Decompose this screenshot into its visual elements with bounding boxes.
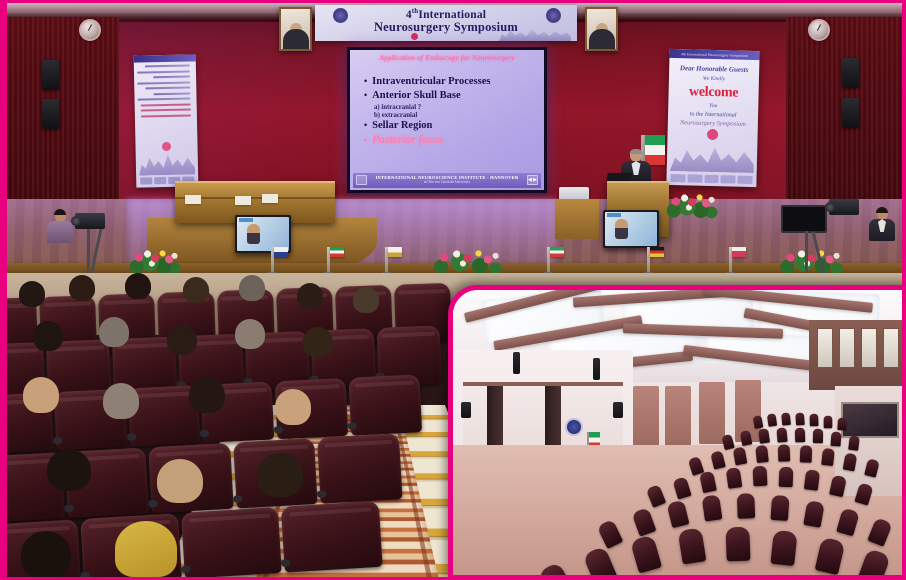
wall-speaker-icon [42, 60, 59, 90]
seat-armrest [274, 426, 283, 433]
auditorium-seat [821, 448, 835, 466]
germany-flag-icon [647, 247, 650, 273]
audience-person [19, 281, 45, 307]
auditorium-seat [781, 412, 791, 425]
audience-person [99, 317, 129, 347]
monitor-titlebar [239, 218, 253, 222]
table-papers [185, 195, 201, 204]
auditorium-seat [672, 476, 691, 499]
audience-person-headscarf [115, 521, 177, 577]
person-shirt [878, 219, 886, 232]
slide-bullet: • Intraventricular Processes [364, 76, 538, 87]
audience-person [257, 453, 303, 497]
person-hair [876, 207, 888, 213]
auditorium-seat [843, 453, 858, 472]
auditorium-seat [836, 508, 860, 537]
national-flag-icon [385, 247, 388, 273]
welcome-banner-body: Dear Honorable Guests We Kindly welcome … [668, 58, 760, 128]
auditorium-seat [758, 428, 770, 444]
auditorium-seat [864, 458, 880, 477]
auditorium-seat [767, 413, 777, 426]
banner-pink-dot-icon [162, 142, 171, 151]
auditorium-seat [770, 530, 797, 566]
camera-lens-icon [825, 202, 835, 212]
auditorium-seat [699, 471, 717, 493]
sponsor-icon [670, 174, 685, 182]
farsi-text-line [145, 65, 190, 68]
symposium-header-banner: 4thInternational Neurosurgery Symposium [315, 5, 577, 41]
stage-flower-arrangement [775, 245, 845, 275]
auditorium-seat [824, 416, 833, 428]
banner-red-text-line [141, 109, 191, 112]
banner-red-text-line [141, 103, 191, 106]
auditorium-seat [857, 548, 891, 575]
side-banner-header-bar [134, 54, 196, 62]
slide-bullet: • Sellar Region [364, 120, 538, 131]
slide-footer-bar: INTERNATIONAL NEUROSCIENCE INSTITUTE - H… [353, 173, 541, 188]
bullet-dot-icon: • [364, 136, 367, 145]
bullet-dot-icon: • [364, 91, 367, 100]
inset-photo-empty-auditorium [448, 285, 902, 577]
wall-speaker-icon [42, 99, 59, 129]
welcome-line-3: You [672, 102, 754, 110]
auditorium-seat [733, 447, 748, 466]
seat-armrest [317, 490, 326, 497]
welcome-banner: 4th International Neurosurgery Symposium… [666, 49, 759, 187]
audience-person [235, 319, 265, 349]
welcome-line-1: Dear Honorable Guests [673, 64, 755, 74]
flag-cloth [388, 247, 402, 257]
audience-person [239, 275, 265, 301]
flag-cloth [550, 247, 564, 257]
institute-logo-icon [356, 175, 367, 185]
auditorium-seat [721, 434, 734, 450]
seat-armrest [53, 437, 62, 444]
slide-footer-text: INTERNATIONAL NEUROSCIENCE INSTITUTE - H… [375, 176, 518, 185]
banner-pink-dot-icon [707, 129, 718, 140]
flower-blooms [427, 245, 505, 275]
welcome-line-5: Neurosurgery Symposium [672, 119, 754, 128]
auditorium-seat [702, 494, 723, 521]
auditorium-seat [582, 546, 617, 575]
flower-blooms [775, 245, 845, 275]
audience-person [183, 277, 209, 303]
sponsor-icon [154, 177, 166, 184]
farsi-text-line [153, 76, 190, 79]
banner-sponsor-icons [670, 174, 752, 184]
audience-person [33, 321, 63, 351]
auditorium-seat [537, 561, 575, 575]
seat-armrest [80, 572, 89, 577]
auditorium-seat [632, 507, 657, 536]
farsi-side-banner [134, 54, 199, 187]
auditorium-seat [630, 534, 662, 573]
slide-body: • Intraventricular Processes • Anterior … [364, 76, 538, 149]
auditorium-seat [830, 431, 841, 446]
auditorium-seat [779, 467, 794, 487]
banner-line-1: 4thInternational [315, 7, 577, 21]
slide-nav-arrows-icon: ◀ ▶ [527, 175, 538, 185]
audience-seat [317, 433, 402, 503]
audience-person [103, 383, 139, 419]
auditorium-seat [755, 445, 769, 463]
audience-person-bald [275, 389, 311, 425]
auditorium-seat [848, 435, 860, 451]
audience-person-bald [157, 459, 203, 503]
seat-armrest [281, 559, 290, 567]
auditorium-seat [795, 413, 805, 426]
auditorium-seat [829, 475, 847, 497]
inset-photo-content [453, 290, 902, 575]
flag-cloth [274, 247, 288, 257]
audience-person-bald [23, 377, 59, 413]
stage-flower-arrangement [127, 245, 181, 275]
flag-cloth [650, 247, 664, 257]
farsi-text-line [137, 81, 190, 84]
auditorium-seat [778, 444, 790, 461]
audience-person [353, 287, 379, 313]
tripod-icon [87, 227, 90, 273]
auditorium-seat [867, 517, 893, 547]
seat-armrest [348, 422, 357, 429]
auditorium-seat [753, 415, 764, 429]
auditorium-seat [804, 469, 820, 491]
person-hair [630, 149, 643, 154]
seat-armrest [181, 566, 190, 574]
person-hair [54, 209, 66, 215]
sponsor-icon [704, 175, 719, 183]
banner-skyline-graphic [670, 139, 755, 173]
audience-person [69, 275, 95, 301]
auditorium-seat [770, 495, 789, 521]
table-papers [262, 194, 278, 203]
wall-portrait-right [585, 7, 618, 51]
slide-sub-item: b) extracranial [374, 112, 538, 119]
table-papers [235, 196, 251, 205]
field-monitor-icon [781, 205, 827, 233]
auditorium-seat [678, 527, 707, 564]
stage-flower-arrangement [427, 245, 505, 275]
presentation-slide: Application of Endoscopy for Neurosurger… [350, 50, 544, 190]
seat-armrest [233, 495, 242, 502]
auditorium-seat [813, 429, 823, 444]
wall-speaker-icon [842, 98, 859, 128]
seat-armrest [200, 430, 209, 437]
slide-bullet-text: Intraventricular Processes [372, 76, 490, 87]
slide-bullet-text: Sellar Region [372, 120, 432, 131]
main-photo-conference-hall: 4thInternational Neurosurgery Symposium [7, 3, 902, 577]
audience-seat [281, 501, 383, 573]
banner-line-2: Neurosurgery Symposium [315, 20, 577, 35]
flower-blooms [664, 189, 718, 219]
audience-person [167, 325, 197, 355]
welcome-banner-header-text: 4th International Neurosurgery Symposium [681, 52, 748, 58]
audience-seat [349, 374, 423, 435]
audience-seat [180, 507, 282, 577]
person-shirt [632, 161, 641, 175]
auditorium-seat [809, 414, 818, 427]
slide-sub-item: a) intracranial ? [374, 104, 538, 111]
auditorium-seat [710, 450, 726, 469]
photo-collage: 4thInternational Neurosurgery Symposium [0, 0, 906, 580]
wall-speaker-icon [842, 58, 859, 88]
auditorium-seat [646, 484, 666, 508]
auditorium-seat [815, 537, 846, 575]
auditorium-seating [453, 290, 902, 575]
flower-blooms [127, 245, 181, 275]
slide-bullet-highlighted: • Posterior fossa [364, 134, 538, 146]
auditorium-seat [666, 500, 689, 528]
welcome-line-2: We Kindly [673, 75, 755, 83]
auditorium-seat [803, 500, 825, 528]
slide-footer-university: at Otto von Guericke University [375, 181, 518, 185]
auditorium-seat [740, 430, 753, 446]
auditorium-seat [854, 482, 873, 505]
slide-bullet-text: Posterior fossa [372, 134, 443, 146]
slide-bullet-text: Anterior Skull Base [372, 90, 460, 101]
banner-pink-dot-icon [411, 33, 418, 40]
person-torso [869, 219, 895, 241]
slide-title: Application of Endoscopy for Neurosurger… [350, 53, 544, 62]
flag-cloth [732, 247, 746, 257]
welcome-word: welcome [672, 84, 754, 102]
tripod-icon [805, 231, 808, 277]
audience-person [21, 531, 71, 577]
auditorium-seat [795, 428, 806, 443]
audience-person [47, 449, 91, 491]
wall-clock-icon [808, 19, 830, 41]
podium-flower-arrangement [664, 189, 718, 219]
flag-cloth [330, 247, 344, 257]
seat-armrest [127, 433, 136, 440]
farsi-text-line [146, 87, 191, 90]
sponsor-icon [721, 175, 736, 183]
crew-person [869, 208, 895, 241]
portrait-body [589, 29, 615, 49]
projection-screen: Application of Endoscopy for Neurosurger… [347, 47, 547, 193]
seat-armrest [148, 500, 157, 507]
audience-person [297, 283, 323, 309]
farsi-text-line [153, 92, 190, 95]
auditorium-seat [776, 427, 787, 442]
audience-person [189, 377, 225, 413]
sponsor-icon [687, 174, 702, 182]
farsi-text-line [137, 70, 190, 73]
portrait-body [283, 29, 309, 49]
iran-flag-icon [327, 247, 330, 273]
monitor-titlebar [607, 213, 621, 217]
welcome-line-4: to the International [672, 111, 754, 119]
sponsor-icon [738, 176, 753, 184]
national-flag-icon [271, 247, 274, 273]
person-torso [47, 221, 73, 243]
wall-clock-icon [79, 19, 101, 41]
auditorium-seat [837, 418, 846, 431]
audience-person [125, 273, 151, 299]
auditorium-seat [752, 466, 767, 487]
farsi-text-line [137, 98, 190, 101]
crew-person [47, 210, 73, 243]
auditorium-seat [597, 519, 624, 549]
bullet-dot-icon: • [364, 77, 367, 86]
sponsor-icon [140, 177, 152, 184]
slide-bullet: • Anterior Skull Base [364, 90, 538, 101]
kuwait-flag-icon [547, 247, 550, 273]
auditorium-seat [726, 467, 743, 489]
auditorium-seat [737, 493, 755, 519]
bullet-dot-icon: • [364, 121, 367, 130]
side-table [555, 199, 599, 239]
wall-portrait-left [279, 7, 312, 51]
national-flag-icon [729, 247, 732, 273]
auditorium-seat [800, 445, 812, 462]
banner-red-text-line [141, 114, 191, 117]
audience-person [303, 327, 333, 357]
stage-front-flag-row [7, 235, 902, 277]
seat-armrest [64, 505, 73, 512]
auditorium-seat [726, 527, 751, 562]
